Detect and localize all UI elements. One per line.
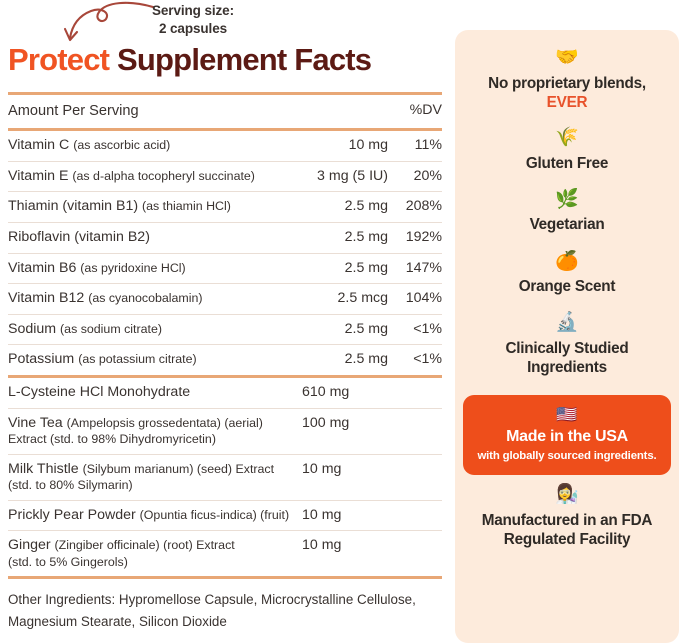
row-name-line2: Extract (std. to 98% Dihydromyricetin) [8,432,296,447]
table-header-name: Amount Per Serving [8,102,302,120]
row-name: L-Cysteine HCl Monohydrate [8,384,302,402]
row-name-main: Potassium [8,351,78,367]
row-amount: 610 mg [302,384,442,402]
row-amount: 2.5 mg [302,260,388,278]
row-name: Vitamin E (as d-alpha tocopheryl succina… [8,168,302,186]
row-name-main: Milk Thistle [8,461,83,477]
microscope-icon: 🔬 [469,309,665,338]
serving-size-value: 2 capsules [152,20,234,38]
row-name: Thiamin (vitamin B1) (as thiamin HCl) [8,198,302,216]
badge-label-text: No proprietary blends, [488,75,646,92]
page-title-highlight: Protect [8,42,109,77]
row-daily-value: 147% [388,260,442,278]
table-row: Vine Tea (Ampelopsis grossedentata) (aer… [8,409,442,454]
us-flag-icon: 🇺🇸 [471,404,663,427]
row-amount: 10 mg [302,507,442,525]
row-name-main: Vitamin B6 [8,260,80,276]
row-name: Prickly Pear Powder (Opuntia ficus-indic… [8,507,302,525]
row-amount: 2.5 mg [302,198,388,216]
badge-item: 🔬Clinically Studied Ingredients [469,309,665,377]
row-name-detail: (Opuntia ficus-indica) (fruit) [140,508,289,522]
scientist-icon: 👩‍🔬 [469,481,665,510]
row-name-main: Vitamin E [8,168,72,184]
badge-label-text: Vegetarian [530,216,605,233]
row-name: Vine Tea (Ampelopsis grossedentata) (aer… [8,415,302,448]
badge-label: No proprietary blends, EVER [469,73,665,113]
row-daily-value: 192% [388,229,442,247]
row-daily-value: <1% [388,321,442,339]
row-name-main: Thiamin (vitamin B1) [8,198,142,214]
table-row: Riboflavin (vitamin B2)2.5 mg192% [8,223,442,253]
serving-size-label: Serving size: [152,2,234,20]
row-name-detail: (as potassium citrate) [78,352,196,366]
row-daily-value: 11% [388,137,442,155]
supplement-facts-page: Serving size: 2 capsules Protect Supplem… [0,0,679,643]
made-in-usa-subtitle: with globally sourced ingredients. [471,449,663,464]
badge-label: Vegetarian [469,214,665,234]
row-name: Ginger (Zingiber officinale) (root) Extr… [8,537,302,570]
row-name-line2: (std. to 80% Silymarin) [8,478,296,493]
badge-list: 🤝No proprietary blends, EVER🌾Gluten Free… [469,44,665,389]
page-title: Protect Supplement Facts [8,42,371,78]
table-row: Vitamin E (as d-alpha tocopheryl succina… [8,162,442,192]
handshake-icon: 🤝 [469,44,665,73]
row-name-main: Sodium [8,321,60,337]
table-row: Vitamin B6 (as pyridoxine HCl)2.5 mg147% [8,254,442,284]
row-amount: 2.5 mg [302,351,388,369]
row-amount: 2.5 mg [302,321,388,339]
table-row: Thiamin (vitamin B1) (as thiamin HCl)2.5… [8,192,442,222]
made-in-usa-card: 🇺🇸 Made in the USA with globally sourced… [463,395,671,475]
row-name-detail: (Zingiber officinale) (root) Extract [55,538,235,552]
row-name-detail: (Ampelopsis grossedentata) (aerial) [67,416,263,430]
row-name-detail: (as ascorbic acid) [73,138,170,152]
table-row: Vitamin C (as ascorbic acid)10 mg11% [8,131,442,161]
row-name-main: Riboflavin (vitamin B2) [8,229,150,245]
row-amount: 2.5 mcg [302,290,388,308]
row-name: Sodium (as sodium citrate) [8,321,302,339]
row-daily-value: 104% [388,290,442,308]
table-row: L-Cysteine HCl Monohydrate610 mg [8,378,442,408]
row-amount: 10 mg [302,461,442,479]
row-name-detail: (as pyridoxine HCl) [80,261,185,275]
row-name-main: Vine Tea [8,415,67,431]
serving-size-note: Serving size: 2 capsules [152,2,234,38]
table-header-dv: %DV [388,102,442,120]
row-amount: 10 mg [302,137,388,155]
page-title-rest: Supplement Facts [109,42,371,77]
row-name-detail: (as sodium citrate) [60,322,162,336]
row-amount: 10 mg [302,537,442,555]
herb-icon: 🌿 [469,186,665,215]
vitamin-rows: Vitamin C (as ascorbic acid)10 mg11%Vita… [8,131,442,375]
grain-icon: 🌾 [469,124,665,153]
table-row: Sodium (as sodium citrate)2.5 mg<1% [8,315,442,345]
badge-label: Clinically Studied Ingredients [469,338,665,378]
badge-label-text: Gluten Free [526,155,608,172]
row-name: Vitamin B6 (as pyridoxine HCl) [8,260,302,278]
row-name-main: Ginger [8,537,55,553]
divider-bottom [8,576,442,579]
row-name-detail: (as cyanocobalamin) [88,291,202,305]
row-name-detail: (as d-alpha tocopheryl succinate) [72,169,255,183]
row-daily-value: 208% [388,198,442,216]
badge-fda-facility-label: Manufactured in an FDA Regulated Facilit… [469,510,665,550]
row-name: Potassium (as potassium citrate) [8,351,302,369]
row-name-main: Vitamin C [8,137,73,153]
table-row: Prickly Pear Powder (Opuntia ficus-indic… [8,501,442,531]
badge-label-text: Clinically Studied Ingredients [506,340,629,376]
badge-fda-facility: 👩‍🔬 Manufactured in an FDA Regulated Fac… [469,481,665,549]
row-name-detail: (as thiamin HCl) [142,199,231,213]
row-amount: 3 mg (5 IU) [302,168,388,186]
row-name-main: L-Cysteine HCl Monohydrate [8,384,190,400]
row-name-line2: (std. to 5% Gingerols) [8,555,296,570]
other-ingredients: Other Ingredients: Hypromellose Capsule,… [8,589,428,632]
badge-label: Orange Scent [469,276,665,296]
row-daily-value: 20% [388,168,442,186]
badge-item: 🌾Gluten Free [469,124,665,173]
table-row: Potassium (as potassium citrate)2.5 mg<1… [8,345,442,375]
row-name: Vitamin B12 (as cyanocobalamin) [8,290,302,308]
badge-item: 🤝No proprietary blends, EVER [469,44,665,112]
row-amount: 2.5 mg [302,229,388,247]
badge-item: 🌿Vegetarian [469,186,665,235]
table-header-row: Amount Per Serving %DV [8,95,442,128]
table-row: Vitamin B12 (as cyanocobalamin)2.5 mcg10… [8,284,442,314]
table-row: Ginger (Zingiber officinale) (root) Extr… [8,531,442,576]
facts-table: Amount Per Serving %DV Vitamin C (as asc… [8,92,442,579]
orange-fruit-icon: 🍊 [469,248,665,277]
row-name: Milk Thistle (Silybum marianum) (seed) E… [8,461,302,494]
row-name: Vitamin C (as ascorbic acid) [8,137,302,155]
row-name-main: Prickly Pear Powder [8,507,140,523]
badge-item: 🍊Orange Scent [469,248,665,297]
row-name-detail: (Silybum marianum) (seed) Extract [83,462,274,476]
badge-label-highlight: EVER [547,94,588,111]
supplement-facts-panel: Serving size: 2 capsules Protect Supplem… [0,0,450,643]
row-name: Riboflavin (vitamin B2) [8,229,302,247]
row-name-main: Vitamin B12 [8,290,88,306]
badge-label-text: Orange Scent [519,278,615,295]
benefits-sidebar: 🤝No proprietary blends, EVER🌾Gluten Free… [455,30,679,643]
table-row: Milk Thistle (Silybum marianum) (seed) E… [8,455,442,500]
made-in-usa-title: Made in the USA [471,427,663,448]
botanical-rows: L-Cysteine HCl Monohydrate610 mgVine Tea… [8,378,442,576]
badge-label: Gluten Free [469,153,665,173]
row-daily-value: <1% [388,351,442,369]
row-amount: 100 mg [302,415,442,433]
